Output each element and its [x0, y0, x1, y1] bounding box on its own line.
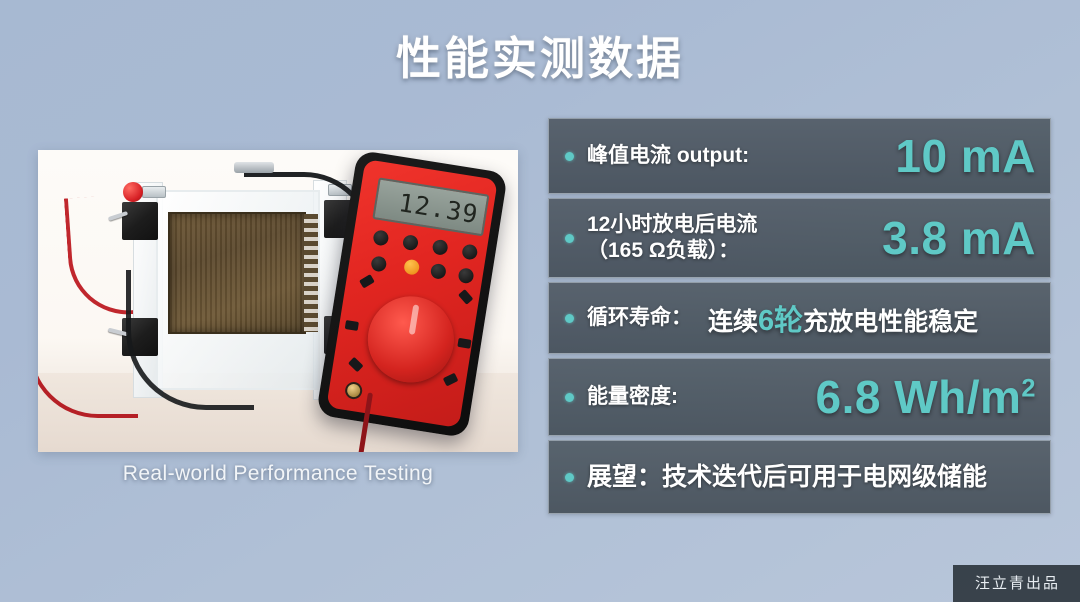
metric-value: 6.8 Wh/m2 — [815, 370, 1036, 424]
dial-mark-3 — [345, 320, 359, 331]
dial-mark-4 — [457, 338, 471, 349]
photo-block: 12.39 — [38, 150, 518, 452]
metric-value: 3.8 mA — [882, 211, 1036, 265]
metric-value: 10 mA — [895, 129, 1036, 183]
metric-value-text: 6.8 Wh/m — [815, 371, 1021, 423]
meter-button-4 — [461, 243, 478, 260]
page-title: 性能实测数据 — [0, 22, 1080, 87]
meter-button-7 — [370, 255, 387, 272]
meter-button-5 — [430, 263, 447, 280]
metrics-panel: 峰值电流 output: 10 mA 12小时放电后电流 （165 Ω负载）： … — [548, 118, 1051, 530]
red-solder-bead — [123, 182, 143, 202]
metric-label: 峰值电流 output: — [587, 143, 749, 169]
meter-button-1 — [372, 229, 389, 246]
bullet-icon — [565, 473, 574, 482]
meter-input-jack — [344, 381, 363, 400]
bullet-icon — [565, 393, 574, 402]
bullet-icon — [565, 314, 574, 323]
dial-mark-1 — [359, 274, 375, 288]
dial-mark-5 — [348, 357, 364, 373]
metric-label: 展望：技术迭代后可用于电网级储能 — [587, 462, 987, 493]
multimeter-lcd-reading: 12.39 — [372, 177, 489, 236]
metric-value-exponent: 2 — [1021, 375, 1036, 403]
meter-button-2 — [402, 234, 419, 251]
sentence-highlight: 6轮 — [758, 305, 803, 337]
dial-mark-6 — [443, 373, 459, 387]
sentence-suffix: 充放电性能稳定 — [803, 308, 978, 336]
photo-caption: Real-world Performance Testing — [38, 462, 518, 486]
bullet-icon — [565, 234, 574, 243]
probe-plug — [234, 162, 274, 173]
meter-power-button — [403, 259, 420, 276]
metric-label: 循环寿命： — [587, 305, 692, 331]
dial-mark-2 — [458, 289, 473, 305]
metric-label: 能量密度: — [587, 384, 678, 410]
metal-tab-left — [142, 186, 166, 198]
lab-photo: 12.39 — [38, 150, 518, 452]
metric-row-12h-current: 12小时放电后电流 （165 Ω负载）： 3.8 mA — [548, 198, 1051, 278]
metric-row-peak-current: 峰值电流 output: 10 mA — [548, 118, 1051, 194]
metric-row-energy-density: 能量密度: 6.8 Wh/m2 — [548, 358, 1051, 436]
sentence-prefix: 连续 — [708, 308, 758, 336]
multimeter-face: 12.39 — [326, 159, 498, 428]
metric-label: 12小时放电后电流 （165 Ω负载）： — [587, 212, 757, 263]
meter-rotary-dial — [362, 290, 460, 388]
metric-row-cycle-life: 循环寿命： 连续6轮充放电性能稳定 — [548, 282, 1051, 354]
meter-button-3 — [432, 239, 449, 256]
bullet-icon — [565, 152, 574, 161]
binder-clip-top-left — [122, 202, 158, 240]
meter-button-6 — [457, 267, 474, 284]
slide-root: 性能实测数据 12.39 — [0, 0, 1080, 602]
metric-sentence: 连续6轮充放电性能稳定 — [708, 297, 978, 339]
metric-row-outlook: 展望：技术迭代后可用于电网级储能 — [548, 440, 1051, 514]
watermark-badge: 汪立青出品 — [953, 565, 1080, 602]
